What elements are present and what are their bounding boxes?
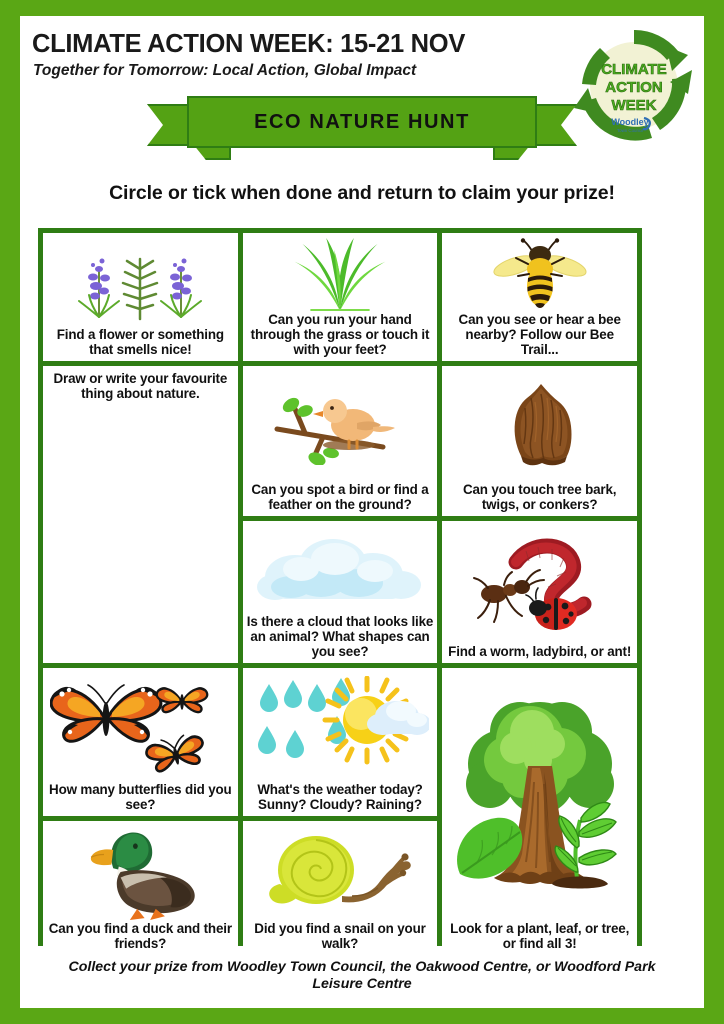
hunt-cell-label: Draw or write your favourite thing about… <box>43 366 238 405</box>
sun-rain-cloud-icon <box>243 668 438 781</box>
ribbon-body: ECO NATURE HUNT <box>187 96 537 148</box>
blank-drawing-area[interactable] <box>43 405 238 663</box>
hunt-cell-bee[interactable]: Can you see or hear a bee nearby? Follow… <box>442 233 637 361</box>
lavender-flowers-icon <box>43 233 238 326</box>
hunt-cell-label: What's the weather today? Sunny? Cloudy?… <box>243 781 438 816</box>
hunt-cell-label: Can you spot a bird or find a feather on… <box>243 481 438 516</box>
hunt-cell-bird[interactable]: Can you spot a bird or find a feather on… <box>243 366 438 516</box>
poster: CLIMATE ACTION WEEK: 15-21 NOV Together … <box>20 16 704 1008</box>
logo-council-sub: Town Council <box>617 128 643 133</box>
instruction-text: Circle or tick when done and return to c… <box>20 182 704 205</box>
grass-tuft-icon <box>243 233 438 311</box>
butterflies-icon <box>43 668 238 781</box>
hunt-cell-grass[interactable]: Can you run your hand through the grass … <box>243 233 438 361</box>
hunt-cell-bark[interactable]: Can you touch tree bark, twigs, or conke… <box>442 366 637 516</box>
hunt-cell-label: Look for a plant, leaf, or tree, or find… <box>442 920 637 955</box>
hunt-cell-label: Can you touch tree bark, twigs, or conke… <box>442 481 637 516</box>
tree-leaf-sapling-icon <box>442 668 637 920</box>
logo-council-name: Woodley <box>611 117 648 127</box>
logo-line-3: WEEK <box>612 97 657 114</box>
hunt-cell-cloud[interactable]: Is there a cloud that looks like an anim… <box>243 521 438 663</box>
hunt-cell-tree[interactable]: Look for a plant, leaf, or tree, or find… <box>442 668 637 955</box>
hunt-cell-label: Is there a cloud that looks like an anim… <box>243 613 438 663</box>
hunt-cell-label: Find a flower or something that smells n… <box>43 326 238 361</box>
hunt-cell-label: Did you find a snail on your walk? <box>243 920 438 955</box>
bird-on-branch-icon <box>243 366 438 481</box>
hunt-cell-weather[interactable]: What's the weather today? Sunny? Cloudy?… <box>243 668 438 816</box>
hunt-cell-draw[interactable]: Draw or write your favourite thing about… <box>43 366 238 663</box>
ribbon-label: ECO NATURE HUNT <box>254 111 470 134</box>
hunt-cell-label: Can you run your hand through the grass … <box>243 311 438 361</box>
worm-ladybird-ant-icon <box>442 521 637 643</box>
hunt-cell-snail[interactable]: Did you find a snail on your walk? <box>243 821 438 955</box>
hunt-cell-minibeasts[interactable]: Find a worm, ladybird, or ant! <box>442 521 637 663</box>
recycling-arrows-icon: CLIMATE ACTION WEEK Woodley Town Council <box>570 22 698 150</box>
bee-icon <box>442 233 637 311</box>
tree-bark-icon <box>442 366 637 481</box>
nature-hunt-grid: Find a flower or something that smells n… <box>38 228 642 946</box>
hunt-cell-label: Can you find a duck and their friends? <box>43 920 238 955</box>
cloud-icon <box>243 521 438 613</box>
climate-action-week-logo: CLIMATE ACTION WEEK Woodley Town Council <box>570 22 698 150</box>
footer-text: Collect your prize from Woodley Town Cou… <box>20 959 704 995</box>
logo-line-1: CLIMATE <box>601 61 667 78</box>
hunt-cell-duck[interactable]: Can you find a duck and their friends? <box>43 821 238 955</box>
snail-icon <box>243 821 438 920</box>
duck-icon <box>43 821 238 920</box>
logo-line-2: ACTION <box>605 79 663 96</box>
hunt-cell-label: Can you see or hear a bee nearby? Follow… <box>442 311 637 361</box>
hunt-cell-label: How many butterflies did you see? <box>43 781 238 816</box>
hunt-cell-butterfly[interactable]: How many butterflies did you see? <box>43 668 238 816</box>
hunt-cell-flower[interactable]: Find a flower or something that smells n… <box>43 233 238 361</box>
hunt-cell-label: Find a worm, ladybird, or ant! <box>444 643 635 663</box>
